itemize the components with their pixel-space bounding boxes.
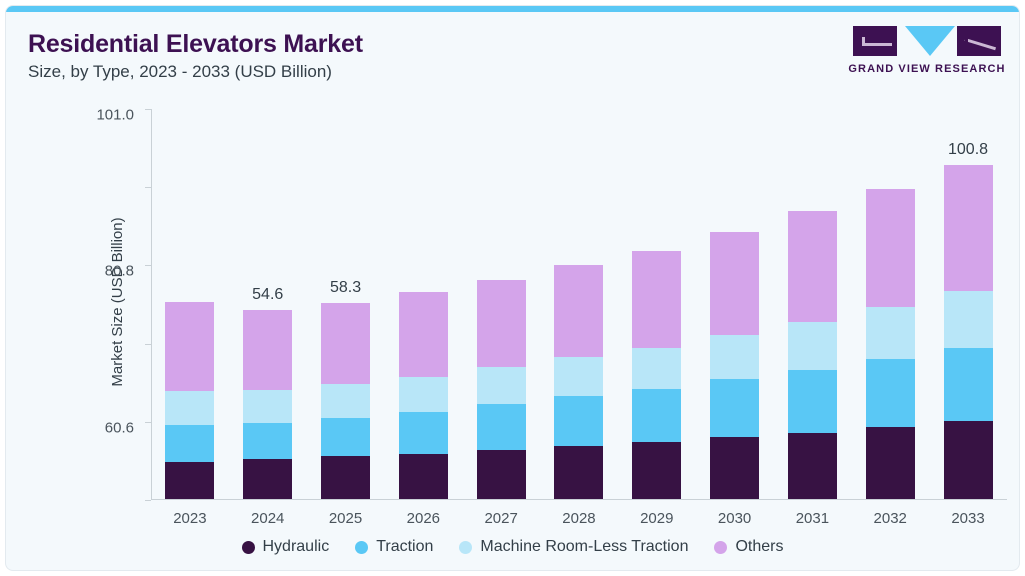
bar-segment-traction[interactable] [477, 404, 526, 450]
legend-color-dot [242, 541, 255, 554]
logo-wordmark: GRAND VIEW RESEARCH [847, 63, 1007, 75]
x-axis-tick-label: 2023 [173, 510, 206, 527]
bar-segment-machine-room-less-traction[interactable] [243, 390, 292, 423]
bar-segment-traction[interactable] [321, 418, 370, 456]
legend-item[interactable]: Traction [355, 538, 433, 556]
bar-segment-others[interactable] [243, 310, 292, 390]
bar-segment-hydraulic[interactable] [165, 462, 214, 499]
x-axis-tick-label: 2029 [640, 510, 673, 527]
y-axis-title: Market Size (USD Billion) [109, 217, 126, 386]
bar-segment-machine-room-less-traction[interactable] [321, 384, 370, 417]
y-axis-tick-label: 101.0 [96, 107, 134, 124]
legend-item[interactable]: Hydraulic [242, 538, 330, 556]
stacked-bar[interactable] [165, 302, 214, 499]
logo-g-mark [853, 26, 897, 56]
bar-slot: 2032 [851, 108, 929, 499]
bar-slot: 2023 [151, 108, 229, 499]
bar-value-label: 54.6 [252, 286, 283, 304]
logo-r-mark [957, 26, 1001, 56]
bar-segment-others[interactable] [399, 292, 448, 378]
bar-value-label: 58.3 [330, 279, 361, 297]
legend-item[interactable]: Others [714, 538, 783, 556]
stacked-bar[interactable] [477, 280, 526, 499]
bar-slot: 2027 [462, 108, 540, 499]
y-axis-tick-label: 60.6 [105, 419, 134, 436]
bar-segment-others[interactable] [321, 303, 370, 385]
bar-segment-others[interactable] [165, 302, 214, 390]
bar-segment-machine-room-less-traction[interactable] [165, 391, 214, 425]
y-axis-tick-label: 80.8 [105, 263, 134, 280]
page-subtitle: Size, by Type, 2023 - 2033 (USD Billion) [28, 62, 332, 82]
bar-slot: 2026 [384, 108, 462, 499]
bar-segment-machine-room-less-traction[interactable] [554, 357, 603, 396]
legend-color-dot [355, 541, 368, 554]
bar-segment-others[interactable] [477, 280, 526, 368]
x-axis-tick-label: 2026 [407, 510, 440, 527]
chart-card: Residential Elevators Market Size, by Ty… [6, 6, 1019, 570]
legend-color-dot [459, 541, 472, 554]
bar-segment-hydraulic[interactable] [321, 456, 370, 499]
bar-segment-traction[interactable] [632, 389, 681, 442]
bar-segment-machine-room-less-traction[interactable] [399, 377, 448, 412]
bar-slot: 2031 [774, 108, 852, 499]
legend-color-dot [714, 541, 727, 554]
x-axis-tick-label: 2033 [951, 510, 984, 527]
page-title: Residential Elevators Market [28, 30, 363, 59]
bar-segment-hydraulic[interactable] [866, 427, 915, 499]
bar-value-label: 100.8 [948, 141, 988, 159]
bar-segment-hydraulic[interactable] [788, 433, 837, 499]
bar-segment-machine-room-less-traction[interactable] [710, 335, 759, 379]
legend-label: Others [735, 538, 783, 556]
stacked-bar[interactable] [554, 265, 603, 499]
bar-segment-hydraulic[interactable] [554, 446, 603, 499]
stacked-bar[interactable] [710, 232, 759, 499]
bar-segment-machine-room-less-traction[interactable] [788, 322, 837, 370]
bar-segment-machine-room-less-traction[interactable] [944, 291, 993, 348]
x-axis-tick-label: 2032 [874, 510, 907, 527]
bar-slot: 100.82033 [929, 108, 1007, 499]
bar-segment-traction[interactable] [243, 423, 292, 459]
stacked-bar[interactable] [788, 211, 837, 499]
bar-segment-others[interactable] [632, 251, 681, 348]
bar-segment-machine-room-less-traction[interactable] [632, 348, 681, 389]
logo-marks [853, 26, 1001, 58]
x-axis-tick-label: 2025 [329, 510, 362, 527]
bar-segment-hydraulic[interactable] [399, 454, 448, 499]
legend-item[interactable]: Machine Room-Less Traction [459, 538, 688, 556]
bar-segment-others[interactable] [554, 265, 603, 358]
bar-segment-machine-room-less-traction[interactable] [477, 367, 526, 404]
x-axis-tick-label: 2024 [251, 510, 284, 527]
stacked-bar[interactable]: 54.6 [243, 310, 292, 499]
stacked-bar[interactable]: 58.3 [321, 303, 370, 499]
bar-segment-others[interactable] [944, 165, 993, 291]
x-axis-tick-label: 2028 [562, 510, 595, 527]
bar-group: 202354.6202458.3202520262027202820292030… [151, 108, 1007, 499]
accent-top-bar [6, 6, 1019, 12]
stacked-bar[interactable]: 100.8 [944, 165, 993, 499]
bar-segment-traction[interactable] [866, 359, 915, 427]
x-axis-tick-label: 2027 [484, 510, 517, 527]
bar-segment-traction[interactable] [165, 425, 214, 462]
bar-segment-machine-room-less-traction[interactable] [866, 307, 915, 359]
bar-segment-hydraulic[interactable] [632, 442, 681, 499]
legend-label: Hydraulic [263, 538, 330, 556]
bar-segment-traction[interactable] [399, 412, 448, 453]
bar-segment-hydraulic[interactable] [243, 459, 292, 499]
x-axis-line [151, 499, 1007, 500]
chart-plot-area: Market Size (USD Billion) 101.080.860.64… [151, 103, 1007, 500]
bar-segment-hydraulic[interactable] [710, 437, 759, 499]
x-axis-tick-label: 2030 [718, 510, 751, 527]
stacked-bar[interactable] [399, 292, 448, 499]
y-axis-tick: 0.0 [145, 500, 151, 501]
grand-view-research-logo: GRAND VIEW RESEARCH [847, 26, 1007, 78]
bar-segment-hydraulic[interactable] [477, 450, 526, 499]
stacked-bar[interactable] [866, 189, 915, 499]
bar-slot: 2028 [540, 108, 618, 499]
legend-label: Machine Room-Less Traction [480, 538, 688, 556]
bar-slot: 54.62024 [229, 108, 307, 499]
bar-slot: 2030 [696, 108, 774, 499]
bar-segment-others[interactable] [788, 211, 837, 322]
bar-segment-others[interactable] [866, 189, 915, 307]
bar-segment-traction[interactable] [554, 396, 603, 446]
x-axis-tick-label: 2031 [796, 510, 829, 527]
bar-segment-traction[interactable] [788, 370, 837, 433]
bar-slot: 58.32025 [307, 108, 385, 499]
bar-slot: 2029 [618, 108, 696, 499]
chart-legend: HydraulicTractionMachine Room-Less Tract… [6, 538, 1019, 556]
bar-segment-others[interactable] [710, 232, 759, 336]
bar-segment-traction[interactable] [944, 348, 993, 422]
bar-segment-traction[interactable] [710, 379, 759, 437]
legend-label: Traction [376, 538, 433, 556]
logo-v-triangle-icon [905, 26, 955, 56]
stacked-bar[interactable] [632, 251, 681, 499]
bar-segment-hydraulic[interactable] [944, 421, 993, 499]
